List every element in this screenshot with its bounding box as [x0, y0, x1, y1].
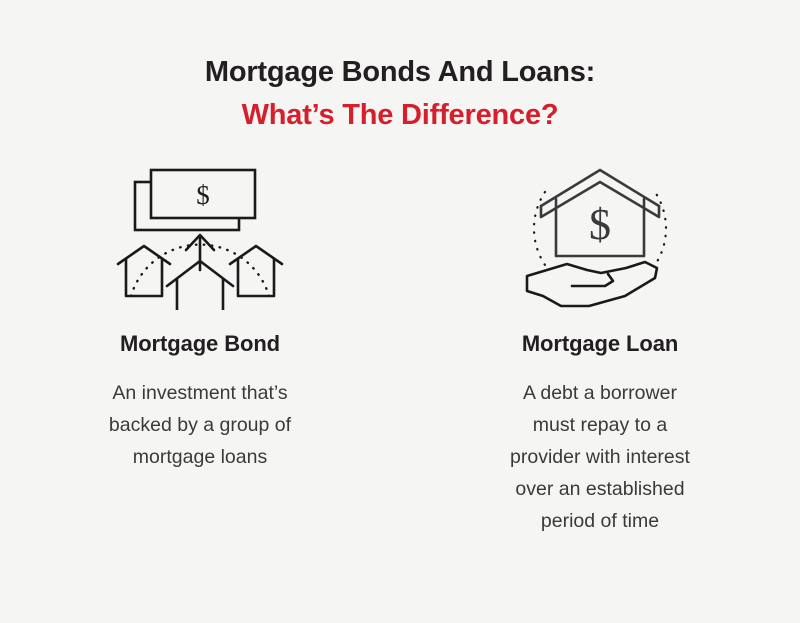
- card-heading-bond: Mortgage Bond: [120, 331, 280, 357]
- card-body-line: period of time: [510, 505, 690, 537]
- dollar-sign-house: $: [589, 200, 611, 249]
- house-center-body: [177, 279, 223, 310]
- title-line-primary: Mortgage Bonds And Loans:: [0, 52, 800, 92]
- card-body-line: provider with interest: [510, 441, 690, 473]
- dollar-sign-bill: $: [196, 180, 210, 210]
- card-body-line: An investment that’s: [109, 377, 291, 409]
- card-body-line: A debt a borrower: [510, 377, 690, 409]
- mortgage-loan-icon: $: [500, 160, 700, 310]
- mortgage-bond-illustration: $: [105, 160, 295, 310]
- card-body-loan: A debt a borrower must repay to a provid…: [510, 377, 690, 537]
- house-right-body: [238, 259, 274, 296]
- card-body-line: mortgage loans: [109, 441, 291, 473]
- mortgage-loan-illustration: $: [505, 160, 695, 310]
- card-body-line: over an established: [510, 473, 690, 505]
- card-mortgage-bond: $ Mortgage Bond An investment t: [0, 160, 400, 473]
- cards-row: $ Mortgage Bond An investment t: [0, 160, 800, 537]
- card-mortgage-loan: $ Mortgage Loan A debt a borrower must r…: [400, 160, 800, 537]
- infographic-canvas: Mortgage Bonds And Loans: What’s The Dif…: [0, 0, 800, 623]
- card-body-bond: An investment that’s backed by a group o…: [109, 377, 291, 473]
- mortgage-bond-icon: $: [100, 160, 300, 310]
- house-left-body: [126, 259, 162, 296]
- page-title: Mortgage Bonds And Loans: What’s The Dif…: [0, 52, 800, 135]
- card-body-line: must repay to a: [510, 409, 690, 441]
- open-hand-outline: [527, 262, 657, 306]
- card-heading-loan: Mortgage Loan: [522, 331, 678, 357]
- title-line-accent: What’s The Difference?: [0, 95, 800, 135]
- card-body-line: backed by a group of: [109, 409, 291, 441]
